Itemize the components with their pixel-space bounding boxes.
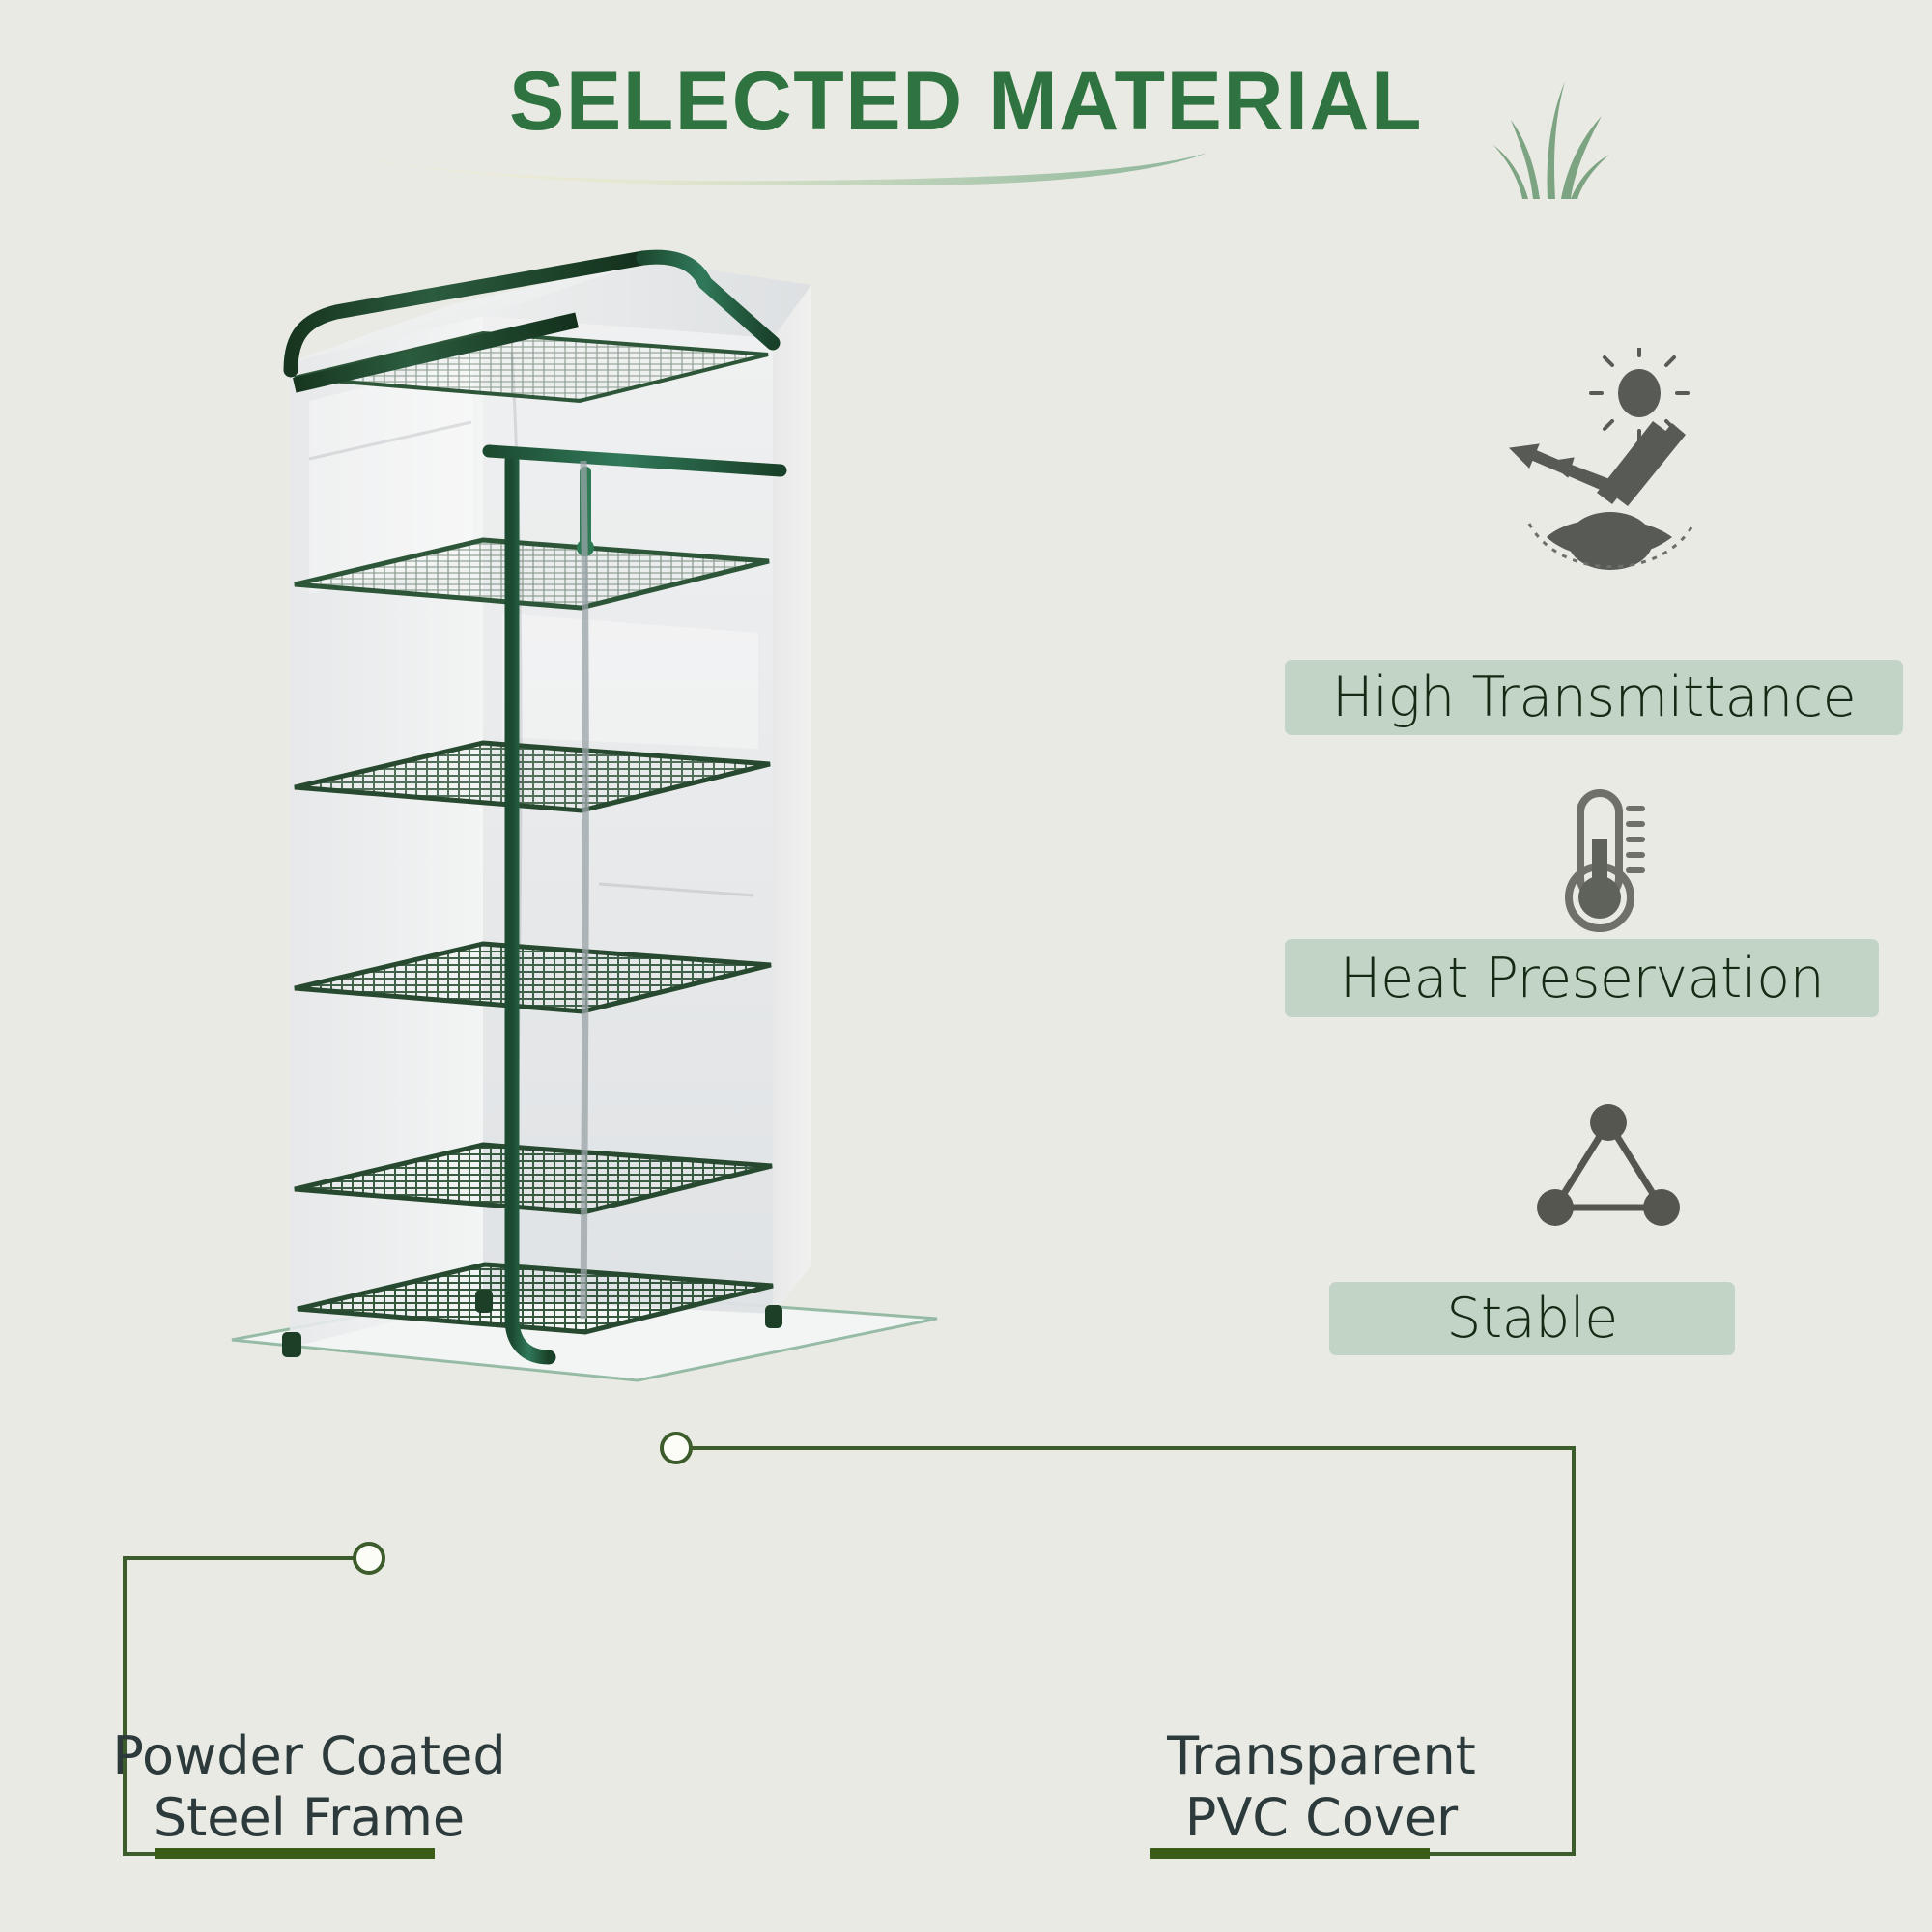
callout-dot-left <box>355 1544 384 1573</box>
infographic-canvas: SELECTED MATERIAL <box>0 0 1932 1932</box>
callout-underline-left <box>155 1848 435 1859</box>
callout-underline-right <box>1150 1848 1430 1859</box>
callout-label-powder-coated-steel-frame: Powder Coated Steel Frame <box>97 1725 522 1848</box>
callout-label-transparent-pvc-cover: Transparent PVC Cover <box>1109 1725 1534 1848</box>
callout-dot-right <box>662 1434 691 1463</box>
callout-connectors <box>0 0 1932 1932</box>
